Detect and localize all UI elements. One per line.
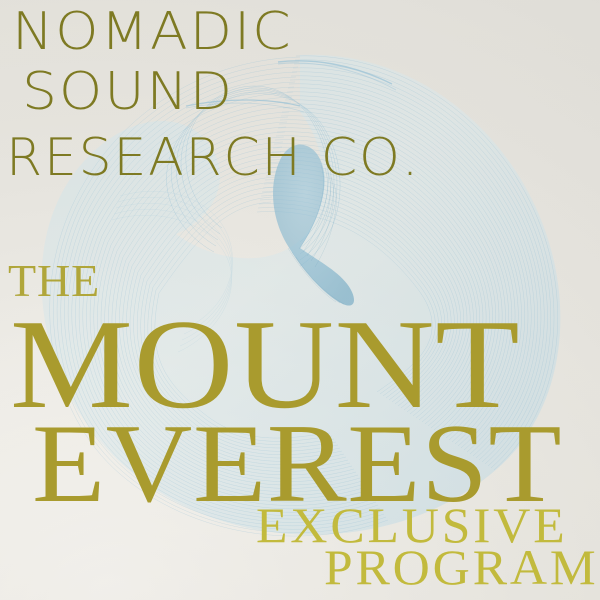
brand-line-research-co: RESEARCH CO. — [6, 132, 420, 184]
typography-layer: NOMADIC SOUND RESEARCH CO. THE MOUNT EVE… — [0, 0, 600, 600]
brand-line-sound: SOUND — [22, 66, 234, 118]
brand-line-nomadic: NOMADIC — [12, 6, 293, 58]
poster-canvas: NOMADIC SOUND RESEARCH CO. THE MOUNT EVE… — [0, 0, 600, 600]
subtitle-line-program: PROGRAM — [324, 542, 599, 592]
